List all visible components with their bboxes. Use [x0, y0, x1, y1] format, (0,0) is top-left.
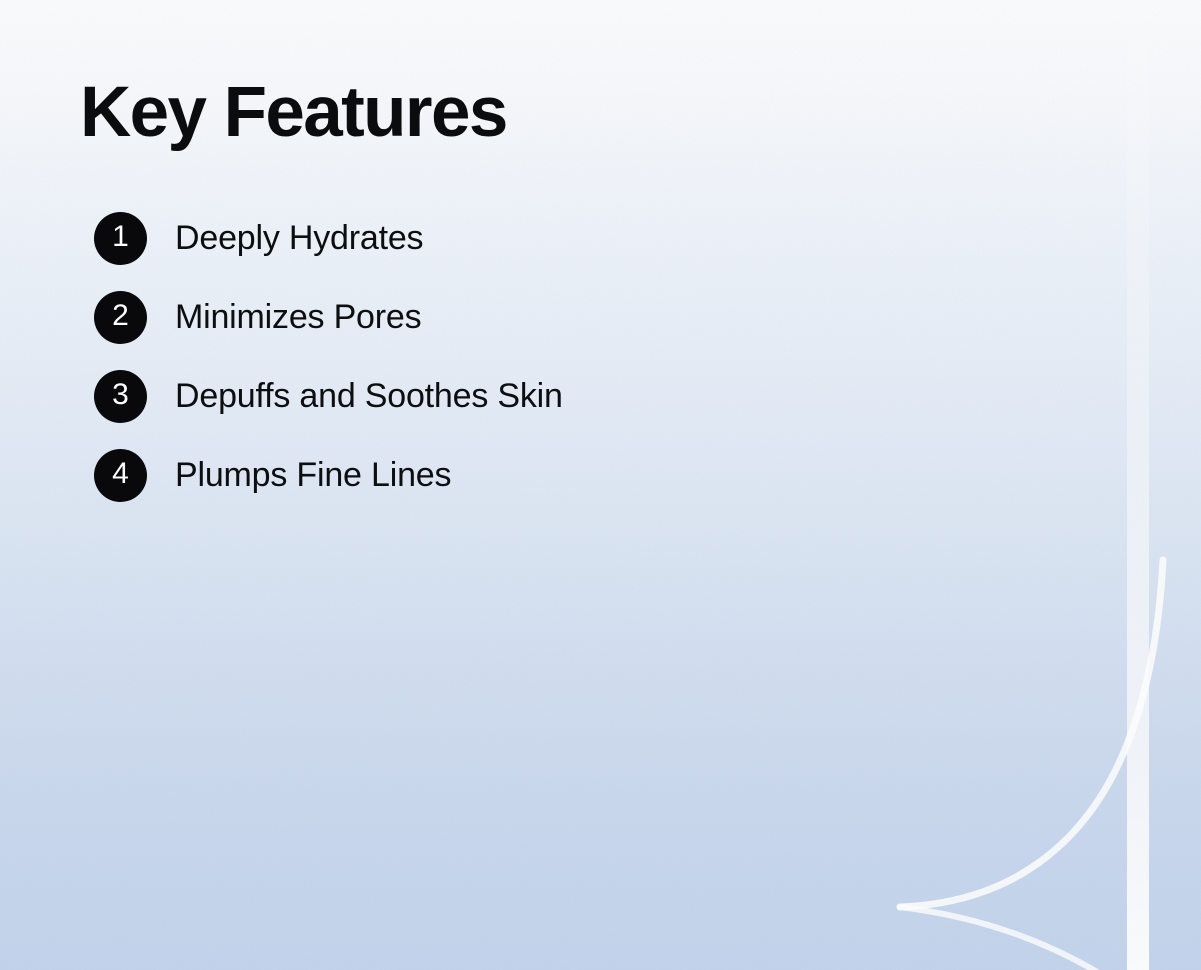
feature-number-badge: 4 [94, 449, 147, 502]
page-title: Key Features [80, 77, 507, 148]
curve-sweep-up [900, 560, 1163, 907]
feature-label: Depuffs and Soothes Skin [175, 377, 563, 416]
list-item: 1 Deeply Hydrates [94, 210, 563, 266]
feature-label: Plumps Fine Lines [175, 456, 451, 495]
list-item: 3 Depuffs and Soothes Skin [94, 368, 563, 424]
feature-number-badge: 1 [94, 212, 147, 265]
vertical-accent-line [1127, 0, 1149, 970]
feature-number-badge: 2 [94, 291, 147, 344]
list-item: 4 Plumps Fine Lines [94, 447, 563, 503]
curve-sweep-down [900, 907, 1118, 970]
list-item: 2 Minimizes Pores [94, 289, 563, 345]
feature-label: Deeply Hydrates [175, 219, 423, 258]
feature-list: 1 Deeply Hydrates 2 Minimizes Pores 3 De… [94, 210, 563, 503]
slide-canvas: Key Features 1 Deeply Hydrates 2 Minimiz… [0, 0, 1201, 970]
feature-label: Minimizes Pores [175, 298, 421, 337]
feature-number-badge: 3 [94, 370, 147, 423]
